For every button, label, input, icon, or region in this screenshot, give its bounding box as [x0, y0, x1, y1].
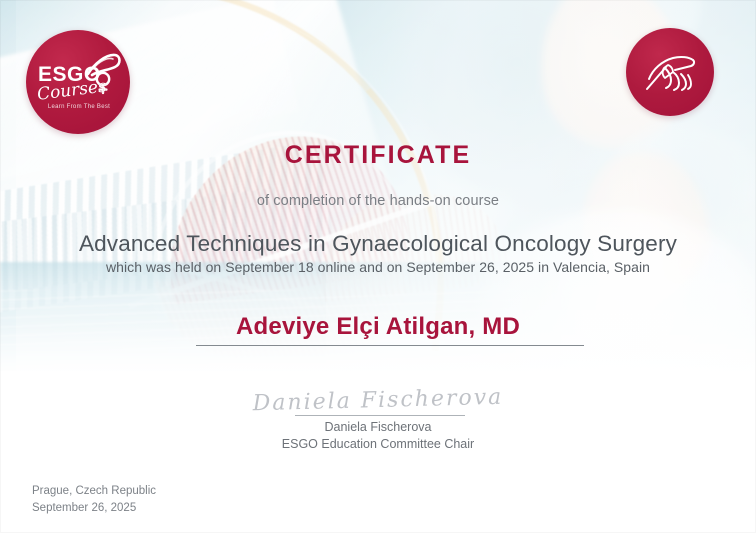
course-dates-line: which was held on September 18 online an…	[0, 259, 756, 275]
esgo-courses-logo: ESGO Courses Learn From The Best	[26, 30, 130, 134]
signature-rule	[295, 415, 465, 416]
signatory-name: Daniela Fischerova	[0, 420, 756, 434]
certificate-subtitle: of completion of the hands-on course	[0, 193, 756, 209]
issue-place-date: Prague, Czech Republic September 26, 202…	[32, 483, 156, 517]
course-title: Advanced Techniques in Gynaecological On…	[0, 231, 756, 257]
issue-place: Prague, Czech Republic	[32, 483, 156, 500]
issue-date: September 26, 2025	[32, 500, 156, 517]
certificate-heading: CERTIFICATE	[0, 141, 756, 170]
signatory-role: ESGO Education Committee Chair	[0, 437, 756, 451]
hands-on-scalpel-badge	[626, 28, 714, 116]
logo-tagline: Learn From The Best	[42, 104, 116, 110]
signature-block: Daniela Fischerova	[0, 390, 756, 412]
recipient-name-rule	[196, 345, 584, 346]
scalpel-hand-icon	[635, 39, 705, 105]
recipient-name: Adeviye Elçi Atilgan, MD	[0, 313, 756, 341]
certificate-page: ESGO Courses Learn From The Best CERTIFI…	[0, 0, 756, 533]
certificate-footer: Daniela Fischerova Daniela Fischerova ES…	[0, 371, 756, 533]
